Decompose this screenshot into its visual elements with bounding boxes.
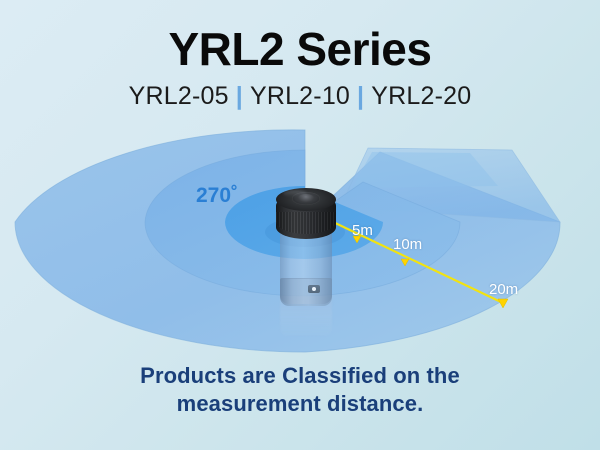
device-cap-highlight bbox=[283, 190, 307, 197]
header: YRL2 Series YRL2-05|YRL2-10|YRL2-20 bbox=[0, 0, 600, 110]
marker-20m bbox=[498, 299, 508, 308]
distance-label-20m: 20m bbox=[489, 281, 518, 298]
caption-line-1: Products are Classified on the bbox=[0, 362, 600, 390]
caption-line-2: measurement distance. bbox=[0, 390, 600, 418]
product-banner: YRL2 Series YRL2-05|YRL2-10|YRL2-20 270˚… bbox=[0, 0, 600, 450]
model-separator-2: | bbox=[350, 82, 371, 110]
lidar-sensor-device bbox=[271, 186, 341, 336]
model-yrl2-20: YRL2-20 bbox=[371, 82, 471, 110]
model-list: YRL2-05|YRL2-10|YRL2-20 bbox=[0, 76, 600, 110]
model-yrl2-05: YRL2-05 bbox=[129, 82, 229, 110]
caption: Products are Classified on the measureme… bbox=[0, 362, 600, 418]
distance-label-10m: 10m bbox=[393, 236, 422, 253]
page-title: YRL2 Series bbox=[0, 0, 600, 76]
device-base-section bbox=[280, 278, 332, 306]
device-indicator-led bbox=[308, 285, 320, 293]
model-yrl2-10: YRL2-10 bbox=[250, 82, 350, 110]
distance-label-5m: 5m bbox=[352, 222, 373, 239]
model-separator-1: | bbox=[229, 82, 250, 110]
scan-angle-label: 270˚ bbox=[196, 184, 238, 208]
